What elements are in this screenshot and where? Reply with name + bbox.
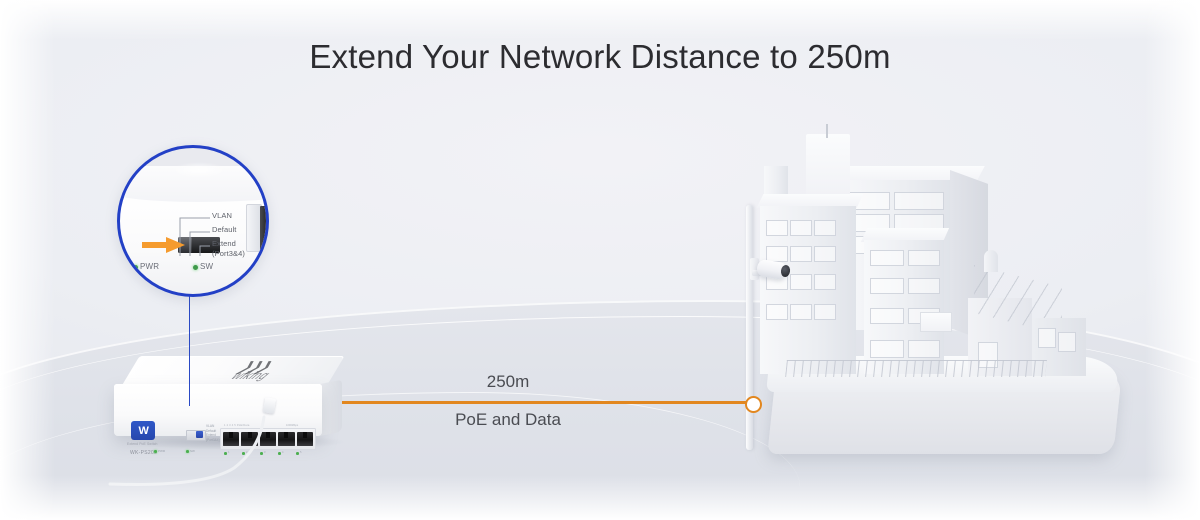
window xyxy=(1038,328,1056,348)
window xyxy=(790,304,812,320)
page-title: Extend Your Network Distance to 250m xyxy=(0,38,1200,76)
window xyxy=(894,192,944,210)
antenna-mast xyxy=(826,124,828,138)
callout-pwr-label: PWR xyxy=(140,262,159,271)
link-distance-label: 250m xyxy=(418,372,598,392)
window xyxy=(870,278,904,294)
ethernet-plug-icon xyxy=(263,397,276,414)
callout-leader-line xyxy=(189,288,191,406)
device-right-side xyxy=(320,380,342,436)
window xyxy=(790,246,812,262)
port-label-4: 4 xyxy=(282,451,283,454)
window xyxy=(814,246,836,262)
ports-caption-right: 1000Mbps xyxy=(286,424,298,427)
port-led-4 xyxy=(278,452,281,455)
window xyxy=(1058,332,1076,352)
window xyxy=(870,308,904,324)
rooftop-unit xyxy=(806,134,850,196)
link-capability-label: PoE and Data xyxy=(398,410,618,430)
callout-sw-label: SW xyxy=(200,262,213,271)
window xyxy=(908,340,940,358)
window xyxy=(814,220,836,236)
perimeter-fence xyxy=(785,360,1047,377)
window xyxy=(766,220,788,236)
window xyxy=(814,274,836,290)
window xyxy=(790,220,812,236)
dip-switch-callout: VLAN Default Extend (Port3&4) PWR SW xyxy=(117,145,269,297)
rj45-port-4[interactable] xyxy=(278,432,294,446)
window xyxy=(766,304,788,320)
window xyxy=(908,278,940,294)
illustration-canvas: Extend Your Network Distance to 250m xyxy=(0,0,1200,520)
pointer-arrow-icon xyxy=(142,235,186,255)
callout-sw-led xyxy=(193,265,198,270)
window xyxy=(790,274,812,290)
callout-dip-leaders xyxy=(176,208,248,260)
window xyxy=(870,340,904,358)
brand-name-top: wiking xyxy=(226,370,274,382)
callout-device-highlight xyxy=(172,162,226,178)
window xyxy=(814,304,836,320)
roof-vent-pipe xyxy=(984,250,998,272)
callout-port-opening xyxy=(260,206,269,250)
rj45-port-5[interactable] xyxy=(297,432,313,446)
port-label-5: 5 xyxy=(300,451,301,454)
signboard xyxy=(920,312,952,332)
poe-switch-device: ❯❯❯ wiking W Extend PoE Switch WK-PS205 … xyxy=(112,356,344,448)
callout-pwr-led xyxy=(133,265,138,270)
port-led-5 xyxy=(296,452,299,455)
window xyxy=(908,250,940,266)
mounting-pole xyxy=(746,205,753,450)
building-complex xyxy=(742,128,1122,458)
window xyxy=(870,250,904,266)
link-endpoint-camera xyxy=(745,396,762,413)
